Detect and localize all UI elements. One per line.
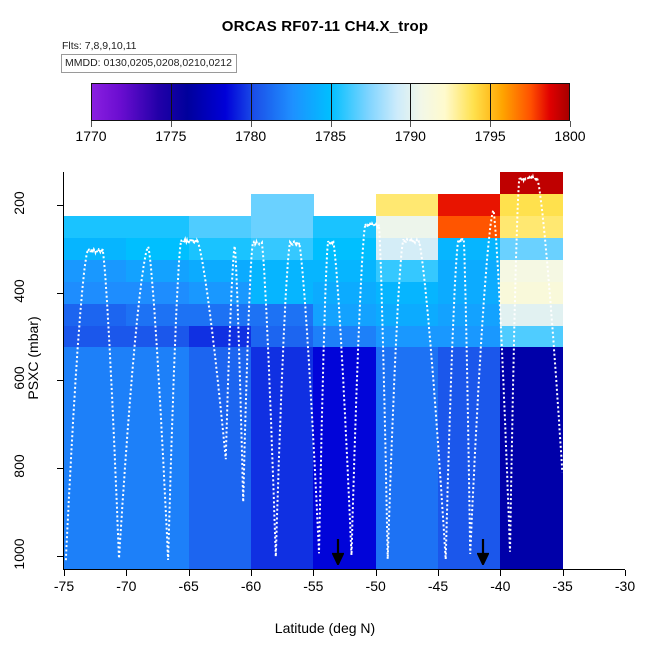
x-axis-line bbox=[64, 569, 625, 570]
x-tick-label: -65 bbox=[159, 578, 219, 594]
profile-marker-arrow bbox=[332, 539, 344, 565]
x-tick bbox=[500, 570, 501, 576]
profile-marker-arrow bbox=[477, 539, 489, 565]
x-tick bbox=[126, 570, 127, 576]
x-tick-label: -50 bbox=[346, 578, 406, 594]
x-tick bbox=[625, 570, 626, 576]
flight-track-line bbox=[66, 177, 562, 560]
colorbar-tick-label: 1780 bbox=[221, 128, 281, 144]
x-tick-label: -75 bbox=[34, 578, 94, 594]
colorbar-tick-label: 1800 bbox=[540, 128, 600, 144]
y-tick bbox=[57, 556, 64, 557]
colorbar-tick bbox=[490, 121, 491, 127]
colorbar-tick-label: 1790 bbox=[380, 128, 440, 144]
colorbar-tick-label: 1770 bbox=[61, 128, 121, 144]
x-tick bbox=[563, 570, 564, 576]
x-axis-title: Latitude (deg N) bbox=[0, 620, 650, 636]
x-tick-label: -30 bbox=[595, 578, 650, 594]
y-tick-label: 800 bbox=[11, 436, 27, 496]
x-tick-label: -45 bbox=[408, 578, 468, 594]
colorbar-tick-label: 1775 bbox=[141, 128, 201, 144]
colorbar-separator bbox=[490, 83, 491, 121]
x-tick-label: -40 bbox=[470, 578, 530, 594]
mmdd-annotation: MMDD: 0130,0205,0208,0210,0212 bbox=[61, 54, 237, 73]
x-tick bbox=[313, 570, 314, 576]
y-tick bbox=[57, 380, 64, 381]
x-tick bbox=[438, 570, 439, 576]
y-tick-label: 1000 bbox=[11, 524, 27, 584]
flight-track bbox=[64, 172, 625, 569]
colorbar-tick bbox=[251, 121, 252, 127]
colorbar-tick bbox=[570, 121, 571, 127]
colorbar-separator bbox=[171, 83, 172, 121]
colorbar-tick bbox=[331, 121, 332, 127]
colorbar-tick-label: 1795 bbox=[460, 128, 520, 144]
figure-root: ORCAS RF07-11 CH4.X_trop Flts: 7,8,9,10,… bbox=[0, 0, 650, 650]
flights-annotation: Flts: 7,8,9,10,11 bbox=[62, 40, 137, 52]
y-tick-label: 200 bbox=[11, 173, 27, 233]
y-tick bbox=[57, 205, 64, 206]
plot-area: -75-70-65-60-55-50-45-40-35-30 200400600… bbox=[64, 172, 625, 569]
x-tick bbox=[376, 570, 377, 576]
colorbar-separator bbox=[251, 83, 252, 121]
x-tick bbox=[251, 570, 252, 576]
x-tick-label: -55 bbox=[283, 578, 343, 594]
x-tick-label: -70 bbox=[96, 578, 156, 594]
colorbar-tick-label: 1785 bbox=[301, 128, 361, 144]
colorbar-tick bbox=[410, 121, 411, 127]
figure-title: ORCAS RF07-11 CH4.X_trop bbox=[0, 18, 650, 35]
x-tick-label: -35 bbox=[533, 578, 593, 594]
colorbar-tick bbox=[91, 121, 92, 127]
y-tick bbox=[57, 293, 64, 294]
colorbar-tick bbox=[171, 121, 172, 127]
x-tick bbox=[189, 570, 190, 576]
colorbar-separator bbox=[331, 83, 332, 121]
x-tick-label: -60 bbox=[221, 578, 281, 594]
colorbar-separator bbox=[410, 83, 411, 121]
y-tick bbox=[57, 468, 64, 469]
y-axis-line bbox=[63, 172, 64, 570]
x-tick bbox=[64, 570, 65, 576]
colorbar: 1770177517801785179017951800 bbox=[91, 83, 570, 121]
y-axis-title: PSXC (mbar) bbox=[25, 288, 41, 428]
